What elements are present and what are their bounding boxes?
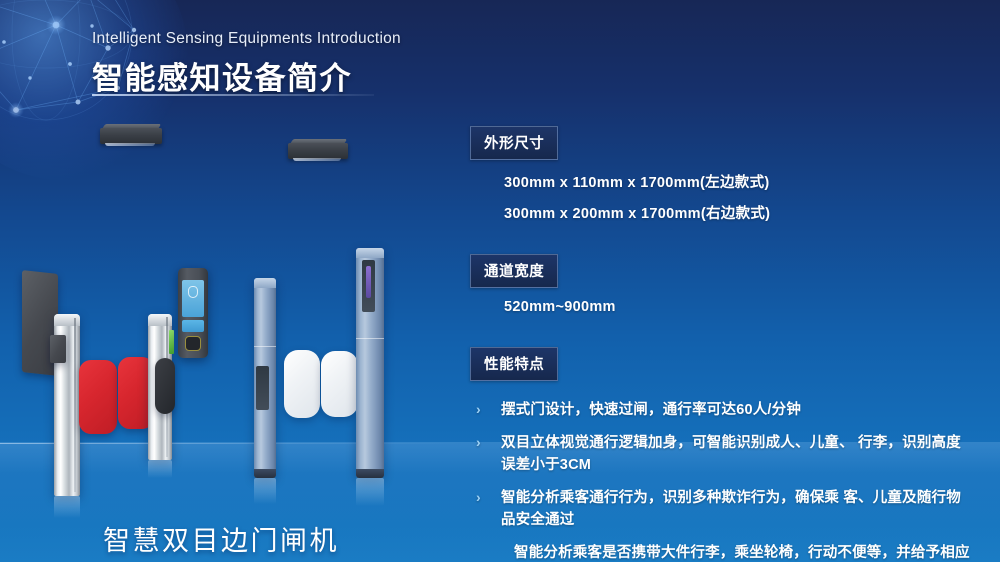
post-top-bevel — [356, 248, 384, 258]
floor-horizon-line — [0, 443, 460, 444]
feature-item: › 摆式门设计，快速过闸，通行率可达60人/分钟 — [470, 399, 970, 421]
sensor-top-face — [289, 139, 347, 146]
chevron-right-icon: › — [476, 487, 481, 508]
feature-item: › 智能分析乘客通行行为，识别多种欺诈行为，确保乘 客、儿童及随行物品安全通过 — [470, 487, 970, 531]
silver-gate-hinge-block — [50, 335, 66, 363]
feature-text: 双目立体视觉通行逻辑加身，可智能识别成人、儿童、 行李，识别高度误差小于3CM — [501, 435, 961, 473]
header-english-subtitle: Intelligent Sensing Equipments Introduct… — [92, 30, 401, 48]
post-cap — [54, 314, 80, 326]
card-reader-icon — [185, 336, 202, 350]
post-cap — [148, 314, 172, 326]
feature-text: 摆式门设计，快速过闸，通行率可达60人/分钟 — [501, 402, 801, 418]
chevron-right-icon: › — [476, 432, 481, 453]
sensor-violet-glow — [366, 266, 371, 298]
blue-gate-sensor-slot-left — [256, 366, 269, 410]
feature-list: › 摆式门设计，快速过闸，通行率可达60人/分钟 › 双目立体视觉通行逻辑加身，… — [470, 399, 970, 562]
section-tag-dimensions: 外形尺寸 — [470, 126, 558, 160]
feature-item-continuation: 智能分析乘客是否携带大件行李，乘坐轮椅，行动不便等，并给予相应的通行策略 — [470, 542, 970, 562]
black-swing-arm — [155, 358, 175, 414]
green-status-led — [169, 330, 174, 354]
lane-width-values: 520mm~900mm — [504, 299, 970, 315]
face-recognition-terminal — [178, 268, 208, 358]
sensor-body — [288, 143, 348, 159]
overhead-sensor-bar-right — [288, 139, 348, 163]
header-divider — [92, 94, 374, 96]
post-seam — [356, 338, 384, 339]
silver-gate-post-right — [148, 314, 172, 460]
post-seam — [254, 346, 276, 347]
feature-text: 智能分析乘客是否携带大件行李，乘坐轮椅，行动不便等，并给予相应的通行策略 — [514, 545, 970, 562]
slide-root: Intelligent Sensing Equipments Introduct… — [0, 0, 1000, 562]
red-swing-wing-right — [118, 357, 154, 429]
lane-width-line: 520mm~900mm — [504, 299, 970, 315]
dimension-line: 300mm x 200mm x 1700mm(右边款式) — [504, 202, 970, 223]
feature-text: 智能分析乘客通行行为，识别多种欺诈行为，确保乘 客、儿童及随行物品安全通过 — [501, 490, 961, 528]
blue-gate-sensor-slot-right — [362, 260, 375, 312]
silver-gate-side-panel — [22, 270, 58, 376]
post-top-bevel — [254, 278, 276, 288]
sensor-underside — [105, 143, 155, 146]
dimensions-values: 300mm x 110mm x 1700mm(左边款式) 300mm x 200… — [504, 171, 970, 223]
sensor-top-face — [101, 124, 161, 131]
spacer — [470, 325, 970, 347]
spacer — [470, 233, 970, 254]
white-swing-wing-left — [284, 350, 320, 418]
post-edge-highlight — [166, 317, 168, 457]
spacer — [470, 381, 970, 399]
chevron-right-icon: › — [476, 399, 481, 420]
terminal-light-strip — [182, 320, 204, 332]
overhead-sensor-bar-left — [100, 124, 162, 148]
spec-content-panel: 外形尺寸 300mm x 110mm x 1700mm(左边款式) 300mm … — [470, 126, 970, 562]
section-tag-performance: 性能特点 — [470, 347, 558, 381]
white-swing-wing-right — [321, 351, 358, 417]
sensor-body — [100, 128, 162, 144]
sensor-underside — [293, 158, 341, 161]
section-tag-lane-width: 通道宽度 — [470, 254, 558, 288]
feature-item: › 双目立体视觉通行逻辑加身，可智能识别成人、儿童、 行李，识别高度误差小于3C… — [470, 432, 970, 476]
face-outline-icon — [188, 286, 198, 297]
dimension-line: 300mm x 110mm x 1700mm(左边款式) — [504, 171, 970, 192]
product-caption: 智慧双目边门闸机 — [103, 519, 339, 558]
terminal-screen — [182, 280, 204, 318]
red-swing-wing-left — [79, 360, 117, 434]
slide-header: Intelligent Sensing Equipments Introduct… — [92, 30, 401, 98]
header-chinese-title: 智能感知设备简介 — [92, 53, 401, 98]
